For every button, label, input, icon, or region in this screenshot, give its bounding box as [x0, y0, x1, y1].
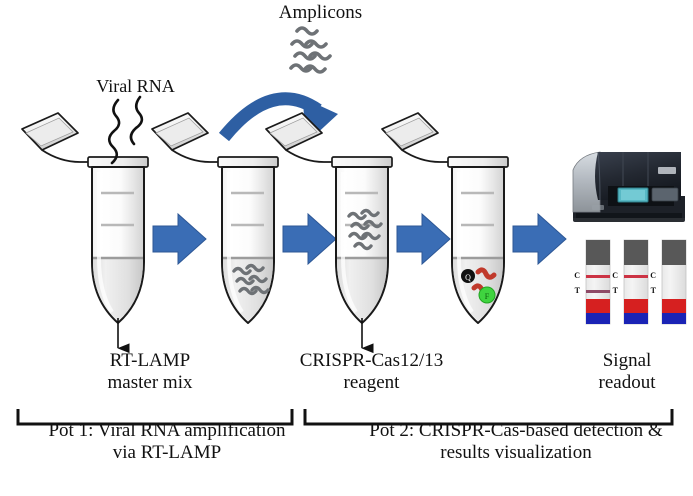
strip-2-label-c: C [612, 271, 618, 280]
microplate-reader [573, 152, 685, 222]
tube-4: Q F [382, 113, 508, 323]
strip-blue-band [624, 313, 648, 324]
tube-1-cap [22, 113, 92, 162]
strip-3-label-c: C [650, 271, 656, 280]
reader-brand-badge [658, 167, 676, 174]
strip-sample-pad [624, 240, 648, 265]
svg-text:Q: Q [465, 273, 471, 282]
bracket-pot1 [18, 409, 292, 424]
tube-2-cap [152, 113, 222, 162]
strip-1-label-c: C [574, 271, 580, 280]
arrow-tube1-to-tube2 [153, 214, 206, 264]
strip-2-label-t: T [613, 286, 619, 295]
lateral-flow-strip-3: C T [650, 240, 686, 324]
strip-red-band [586, 299, 610, 313]
strip-test-line [586, 290, 610, 293]
strip-control-line [586, 275, 610, 278]
tube-4-cap [382, 113, 452, 162]
viral-rna-strand [109, 97, 142, 163]
strip-1-label-t: T [575, 286, 581, 295]
strip-red-band [662, 299, 686, 313]
tube-4-collar [448, 157, 508, 167]
strip-blue-band [662, 313, 686, 324]
arrow-tube4-to-readout [513, 214, 566, 264]
strip-sample-pad [586, 240, 610, 265]
free-amplicons [291, 28, 330, 72]
arrow-tube2-to-tube3 [283, 214, 336, 264]
strip-control-line [624, 275, 648, 278]
strip-3-label-t: T [651, 286, 657, 295]
diagram-artwork: Q F [0, 0, 693, 496]
tube-3 [266, 113, 392, 323]
tube-2 [152, 113, 278, 323]
tube-1 [22, 113, 148, 323]
tube-3-collar [332, 157, 392, 167]
bracket-pot2 [305, 409, 672, 424]
svg-text:F: F [485, 292, 490, 301]
strip-sample-pad [662, 240, 686, 265]
strip-red-band [624, 299, 648, 313]
figure-canvas: Amplicons Viral RNA RT-LAMP master mix C… [0, 0, 693, 496]
tube-2-collar [218, 157, 278, 167]
lateral-flow-strip-2: C T [612, 240, 648, 324]
arrow-tube3-to-tube4 [397, 214, 450, 264]
strip-blue-band [586, 313, 610, 324]
tube-1-collar [88, 157, 148, 167]
lateral-flow-strip-1: C T [574, 240, 610, 324]
